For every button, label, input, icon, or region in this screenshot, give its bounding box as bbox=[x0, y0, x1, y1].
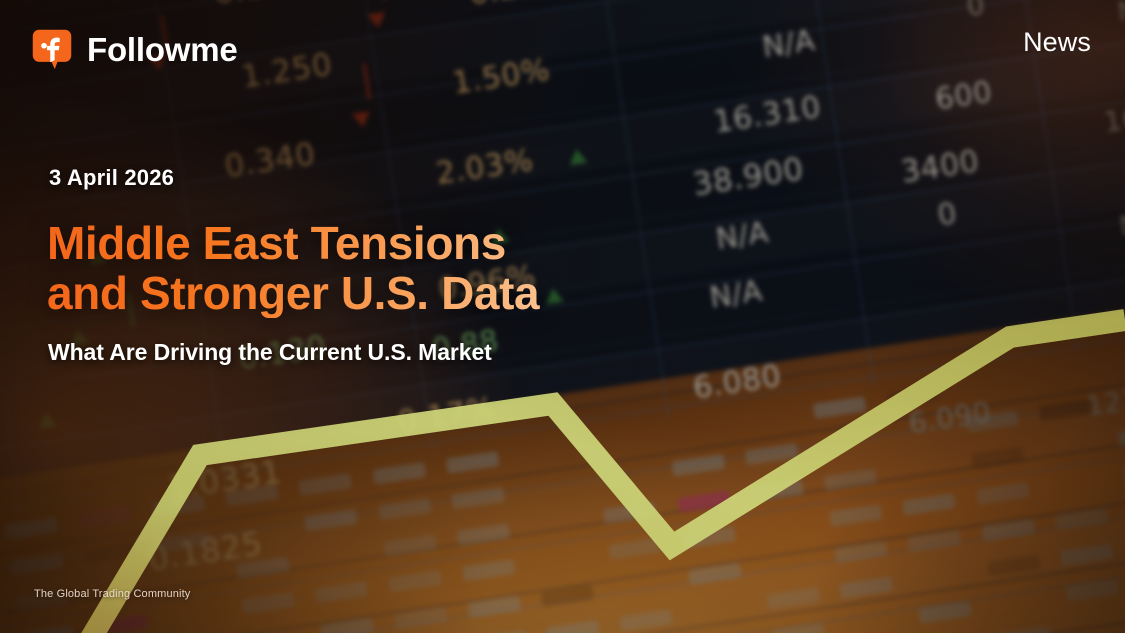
followme-speech-bubble-f-icon bbox=[30, 27, 74, 71]
article-subtitle: What Are Driving the Current U.S. Market bbox=[48, 341, 492, 364]
banner-content: Followme News 3 April 2026 Middle East T… bbox=[0, 0, 1125, 633]
page-title: Middle East Tensions and Stronger U.S. D… bbox=[47, 219, 687, 318]
article-date: 3 April 2026 bbox=[49, 167, 174, 189]
headline-line-1: Middle East Tensions bbox=[47, 219, 687, 269]
brand-name: Followme bbox=[87, 33, 238, 66]
nav-link-news[interactable]: News bbox=[1023, 29, 1091, 56]
headline-line-2: and Stronger U.S. Data bbox=[47, 269, 687, 319]
news-banner: 16.3700.4200.68%0.13250.21%1.2501.50%0.3… bbox=[0, 0, 1125, 633]
brand-tagline: The Global Trading Community bbox=[34, 589, 190, 600]
brand-logo[interactable]: Followme bbox=[30, 27, 238, 71]
